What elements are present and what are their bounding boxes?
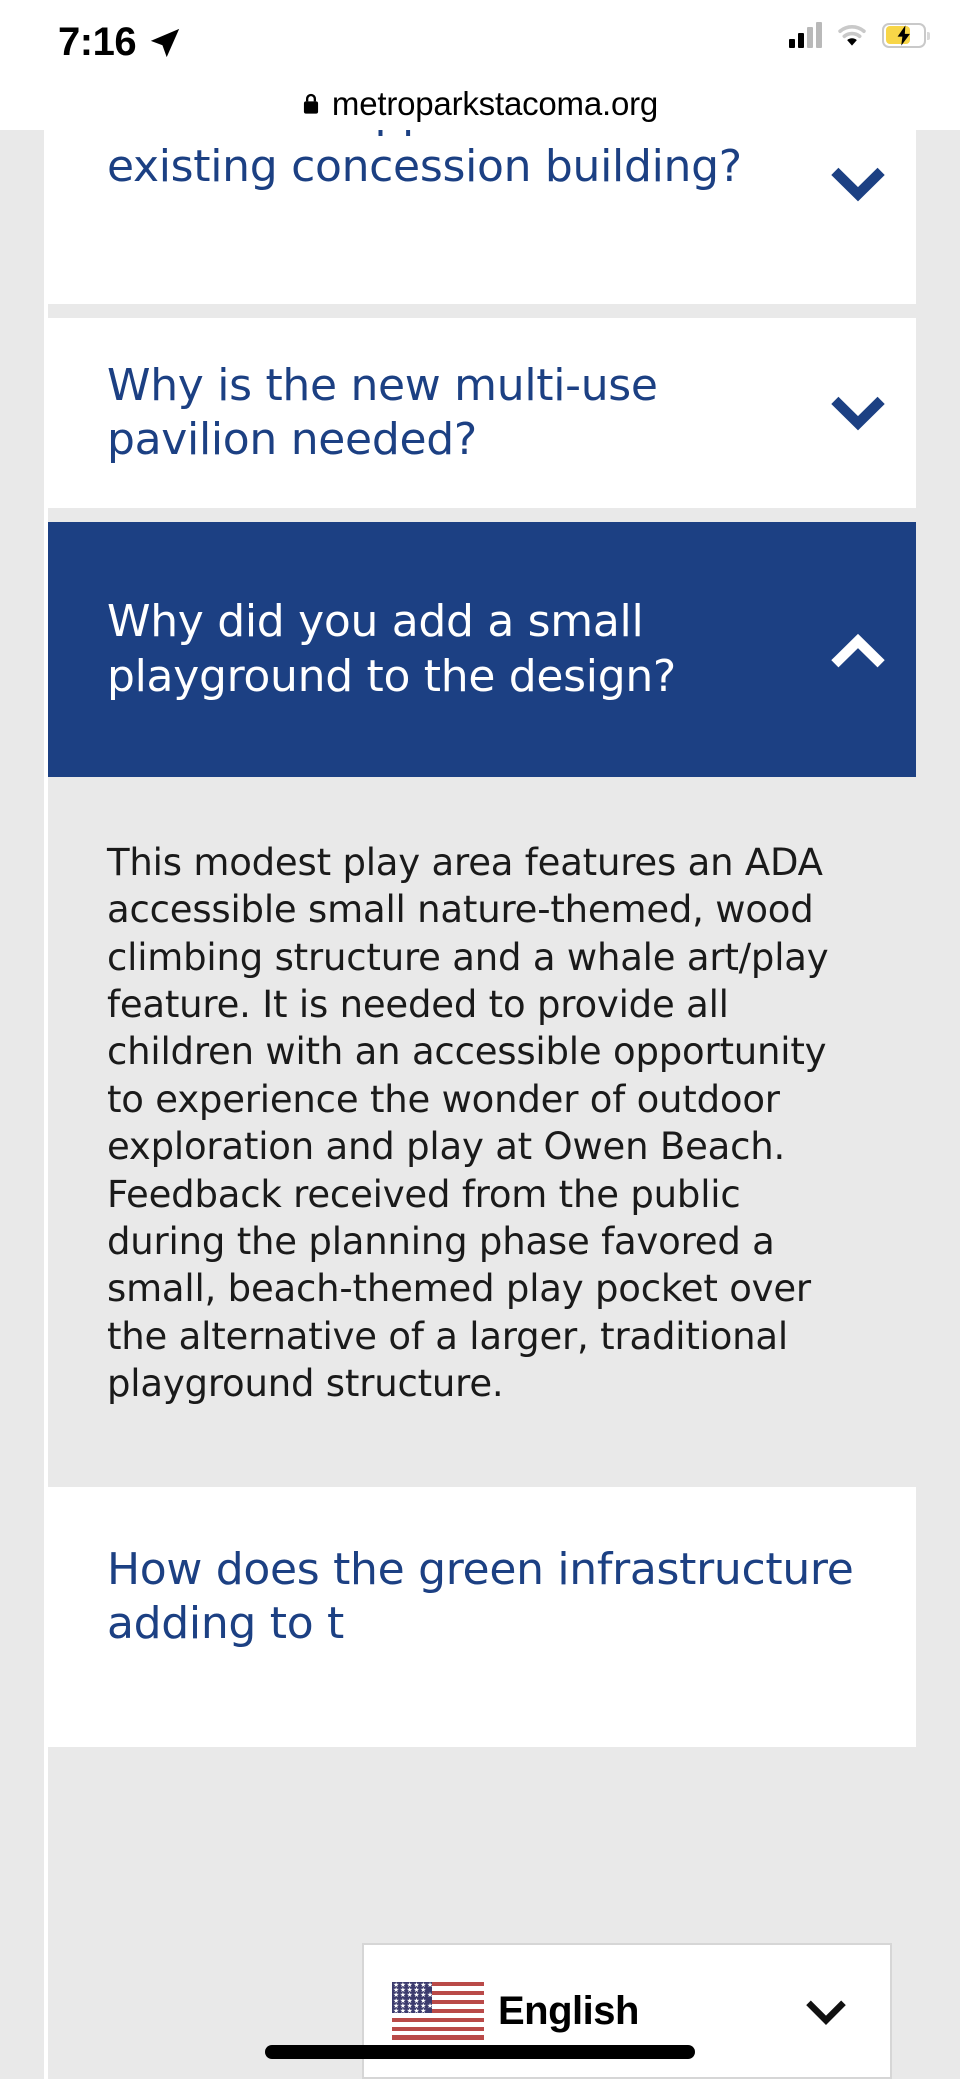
chevron-down-icon[interactable] xyxy=(798,1983,854,2039)
faq-question-1: What will happen to the existing concess… xyxy=(107,130,822,194)
language-label: English xyxy=(498,1989,798,2034)
faq-item-2[interactable]: Why is the new multi-use pavilion needed… xyxy=(44,318,916,508)
battery-charging-icon xyxy=(882,23,930,48)
chevron-down-icon[interactable] xyxy=(822,148,894,220)
cellular-bars-icon xyxy=(789,22,822,48)
lock-icon xyxy=(302,92,320,116)
location-arrow-icon xyxy=(148,26,182,60)
faq-item-1[interactable]: What will happen to the existing concess… xyxy=(44,130,916,304)
ios-status-bar: 7:16 xyxy=(0,0,960,78)
faq-question-3: Why did you add a small playground to th… xyxy=(107,595,822,703)
faq-item-4[interactable]: How does the green infrastructure adding… xyxy=(44,1487,916,1747)
wifi-icon xyxy=(835,22,869,48)
charging-bolt-icon xyxy=(893,24,915,47)
faq-question-4: How does the green infrastructure adding… xyxy=(107,1543,894,1651)
faq-question-2: Why is the new multi-use pavilion needed… xyxy=(107,359,822,467)
webpage-viewport[interactable]: What will happen to the existing concess… xyxy=(0,130,960,2079)
faq-item-3[interactable]: Why did you add a small playground to th… xyxy=(44,522,916,777)
url-text: metroparkstacoma.org xyxy=(332,85,658,123)
home-indicator-bar xyxy=(265,2045,695,2059)
chevron-down-icon[interactable] xyxy=(822,377,894,449)
chevron-up-icon[interactable] xyxy=(822,614,894,686)
browser-url-bar[interactable]: metroparkstacoma.org xyxy=(0,78,960,130)
faq-gap-1 xyxy=(44,304,916,318)
page-left-rail xyxy=(44,130,48,2079)
status-bar-time: 7:16 xyxy=(58,20,136,65)
faq-gap-2 xyxy=(44,508,916,522)
status-bar-indicators xyxy=(789,22,930,48)
us-flag-icon: ★★★★★★★★★★★★★★★★★★★★★★★★★★★★★★★★★ xyxy=(392,1982,484,2040)
faq-accordion-list: What will happen to the existing concess… xyxy=(44,130,916,1747)
faq-answer-3: This modest play area features an ADA ac… xyxy=(44,777,916,1357)
